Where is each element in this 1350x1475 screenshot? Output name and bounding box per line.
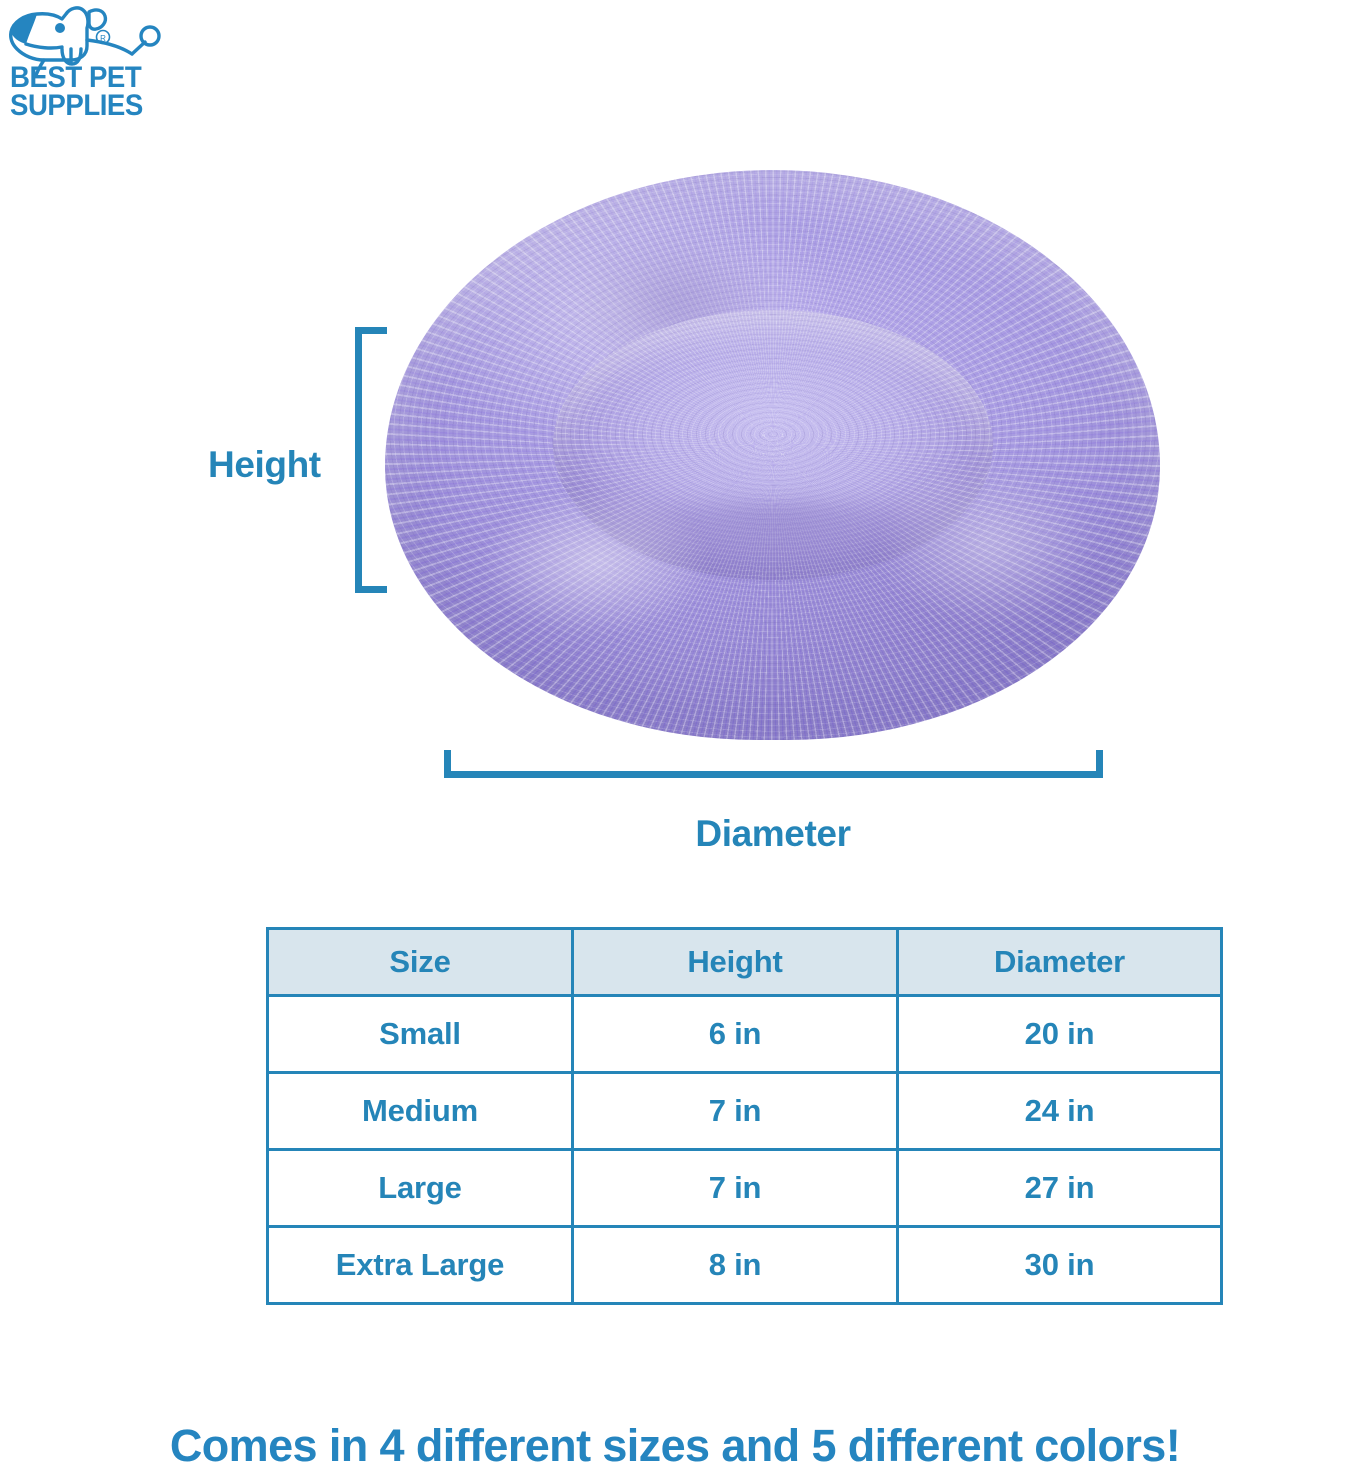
diameter-measurement-bracket <box>444 750 1103 778</box>
cell-height: 7 in <box>573 1150 898 1227</box>
cell-size: Extra Large <box>268 1227 573 1304</box>
table-row: Medium 7 in 24 in <box>268 1073 1222 1150</box>
cell-diameter: 20 in <box>898 996 1222 1073</box>
column-header-size: Size <box>268 929 573 996</box>
bed-highlight-left <box>425 470 755 680</box>
brand-logo: R BEST PET SUPPLIES <box>4 2 164 130</box>
cell-diameter: 24 in <box>898 1073 1222 1150</box>
diameter-callout-text: Diameter <box>695 813 850 855</box>
cell-height: 7 in <box>573 1073 898 1150</box>
pet-bed-image <box>385 170 1160 740</box>
table-row: Large 7 in 27 in <box>268 1150 1222 1227</box>
cell-diameter: 30 in <box>898 1227 1222 1304</box>
cell-size: Large <box>268 1150 573 1227</box>
column-header-diameter: Diameter <box>898 929 1222 996</box>
brand-wordmark-line-2: SUPPLIES <box>10 92 148 120</box>
svg-text:R: R <box>100 34 106 43</box>
diameter-callout-label: Diameter <box>0 813 1350 855</box>
column-header-height: Height <box>573 929 898 996</box>
height-callout-label: Height <box>208 444 321 486</box>
size-chart-table: Size Height Diameter Small 6 in 20 in Me… <box>266 927 1223 1305</box>
cell-size: Medium <box>268 1073 573 1150</box>
cell-diameter: 27 in <box>898 1150 1222 1227</box>
product-illustration-area: Height Diameter <box>0 150 1350 810</box>
cell-size: Small <box>268 996 573 1073</box>
footer-headline: Comes in 4 different sizes and 5 differe… <box>0 1420 1350 1472</box>
bed-highlight-right <box>855 430 1155 660</box>
brand-wordmark: BEST PET SUPPLIES <box>10 64 148 119</box>
table-row: Small 6 in 20 in <box>268 996 1222 1073</box>
cell-height: 6 in <box>573 996 898 1073</box>
brand-wordmark-line-1: BEST PET <box>10 64 148 92</box>
table-row: Extra Large 8 in 30 in <box>268 1227 1222 1304</box>
height-measurement-bracket <box>355 327 387 593</box>
table-header-row: Size Height Diameter <box>268 929 1222 996</box>
cell-height: 8 in <box>573 1227 898 1304</box>
